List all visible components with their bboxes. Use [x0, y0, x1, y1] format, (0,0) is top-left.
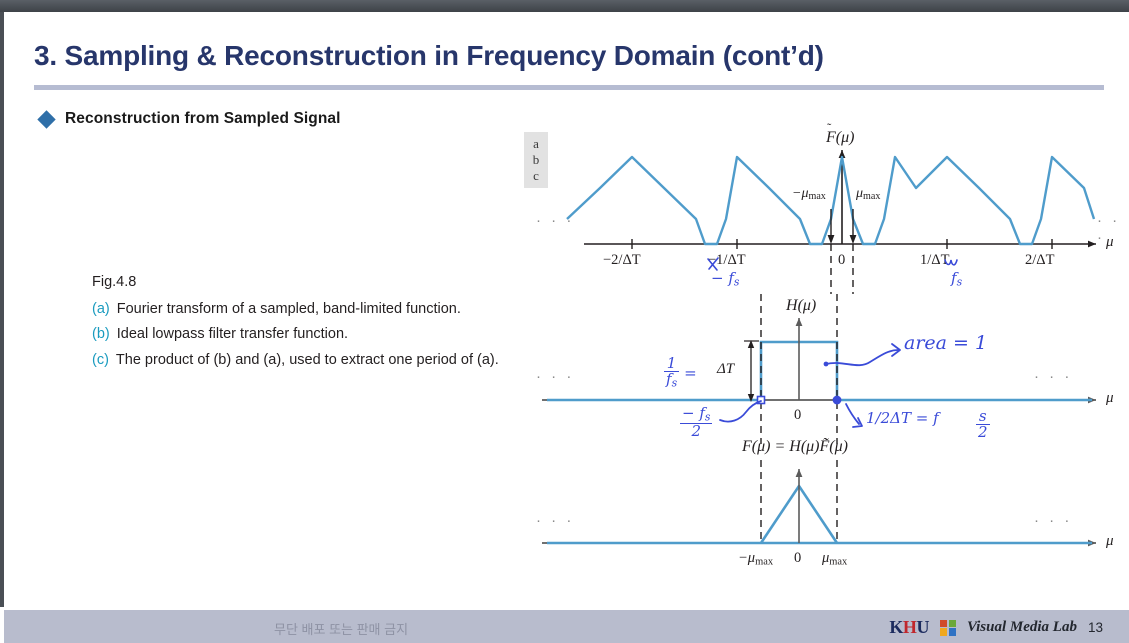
slide-canvas: 3. Sampling & Reconstruction in Frequenc…: [4, 12, 1129, 607]
panel-a-tick-label-2: 0: [838, 252, 845, 269]
figure-caption: Fig.4.8 (a) Fourier transform of a sampl…: [92, 272, 522, 375]
panel-b-delta-t-label: ΔT: [717, 361, 734, 378]
khu-logo-k: K: [889, 617, 903, 637]
bullet-label: Reconstruction from Sampled Signal: [65, 110, 341, 128]
panel-a-tick-label-0: −2/ΔT: [603, 252, 641, 269]
handwritten-nfs2-bottom: 2: [680, 424, 712, 439]
window-top-bar: [0, 0, 1129, 12]
panel-a-y-label-symbol: F: [826, 129, 836, 146]
handwritten-nfs2-top-sym: − f: [682, 404, 705, 422]
caption-text: The product of (b) and (a), used to extr…: [116, 350, 522, 371]
handwritten-half-sample-rate-text: 1/2ΔT = f: [866, 409, 939, 427]
panel-c-tick-left-sub: max: [755, 556, 773, 567]
handwritten-frac-bottom-sub: s: [672, 376, 678, 389]
panel-a-pos-mumax-sub: max: [863, 191, 880, 202]
panel-a-neg-mumax-symbol: −μ: [792, 186, 808, 201]
handwritten-area-equals-one: area = 1: [904, 332, 987, 354]
caption-item: (b) Ideal lowpass filter transfer functi…: [92, 324, 522, 345]
khu-logo: KHU: [889, 617, 929, 638]
handwritten-fs2-bottom: 2: [976, 425, 990, 440]
footer-branding: KHU Visual Media Lab 13: [889, 617, 1103, 638]
khu-logo-h: H: [903, 617, 917, 637]
four-squares-icon: [940, 620, 956, 636]
caption-item: (a) Fourier transform of a sampled, band…: [92, 299, 522, 320]
slide-footer: 무단 배포 또는 판매 금지 KHU Visual Media Lab 13: [4, 610, 1129, 643]
handwritten-fraction-one-over-fs: 1 fs: [664, 356, 679, 389]
panel-c-tick-center: 0: [794, 550, 801, 567]
panel-b-title: H(μ): [786, 297, 816, 315]
title-underline: [34, 85, 1104, 90]
handwritten-one-over-fs: 1 fs =: [664, 356, 697, 389]
handwritten-tick-left: [704, 256, 734, 276]
panel-a-x-arrowhead: [1088, 241, 1096, 248]
caption-tag: (a): [92, 299, 110, 320]
figure-number: Fig.4.8: [92, 272, 522, 293]
caption-tag: (c): [92, 350, 109, 371]
handwritten-leader-right: [846, 404, 859, 424]
handwritten-neg-fs-sub: s: [734, 275, 740, 288]
panel-a-tick-label-4: 2/ΔT: [1025, 252, 1054, 269]
panel-b-right-corner-dot: [833, 396, 842, 405]
panel-c-tick-left-sym: −μ: [738, 550, 755, 566]
handwritten-neg-fs-over-2: − fs 2: [680, 406, 712, 439]
panel-b-title-symbol: H: [786, 297, 798, 314]
footer-notice: 무단 배포 또는 판매 금지: [274, 619, 408, 638]
panel-a-pos-mumax-label: μmax: [856, 186, 880, 202]
handwritten-leader-left: [720, 401, 761, 422]
handwritten-fraction-neg-fs-2: − fs 2: [680, 406, 712, 439]
square-yellow: [940, 628, 947, 635]
lab-name: Visual Media Lab: [967, 619, 1077, 636]
square-red: [940, 620, 947, 627]
panel-b-x-axis-label: μ: [1106, 390, 1114, 407]
panel-b-left-ellipsis: · · ·: [536, 368, 574, 385]
handwritten-fs-over-2: s 2: [976, 409, 990, 440]
caption-item: (c) The product of (b) and (a), used to …: [92, 350, 522, 371]
caption-text: Fourier transform of a sampled, band-lim…: [117, 299, 522, 320]
panel-a-neg-mumax-label: −μmax: [792, 186, 826, 202]
square-blue: [949, 628, 956, 635]
panel-b-y-arrowhead: [796, 318, 803, 326]
figure-4-8: a b c: [514, 124, 1129, 584]
handwritten-dot-area: [824, 362, 829, 367]
bullet-row: Reconstruction from Sampled Signal: [40, 110, 341, 128]
page-title: 3. Sampling & Reconstruction in Frequenc…: [34, 40, 824, 72]
caption-text: Ideal lowpass filter transfer function.: [117, 324, 522, 345]
panel-a-mumax-left-arrowhead: [828, 235, 835, 244]
handwritten-equals: =: [684, 364, 697, 382]
panel-c-x-axis-label: μ: [1106, 533, 1114, 550]
panel-a-y-axis-label: F ̃ (μ): [826, 129, 854, 147]
panel-c-tick-left: −μmax: [738, 550, 773, 567]
panel-c-y-arrowhead: [796, 469, 803, 477]
handwritten-fraction-fs-2: s 2: [976, 409, 990, 440]
handwritten-half-sample-rate: 1/2ΔT = f: [866, 409, 939, 427]
handwritten-pos-fs-sub: s: [957, 275, 963, 288]
panel-b-title-arg: (μ): [798, 297, 817, 314]
panel-a-right-ellipsis: · · ·: [1097, 212, 1129, 246]
panel-a-left-ellipsis: · · ·: [536, 212, 574, 229]
panel-c-tick-right: μmax: [822, 550, 847, 567]
caption-tag: (b): [92, 324, 110, 345]
panel-b-origin-label: 0: [794, 407, 801, 424]
panel-b-right-ellipsis: · · ·: [1034, 368, 1072, 385]
page-number: 13: [1088, 620, 1103, 635]
handwritten-frac-bottom: fs: [664, 372, 679, 389]
panel-c-left-ellipsis: · · ·: [536, 512, 574, 529]
handwritten-nfs2-top-sub: s: [705, 410, 711, 423]
panel-c-title: F(μ) = H(μ)F̃(μ): [742, 438, 848, 456]
panel-a-neg-mumax-sub: max: [808, 191, 825, 202]
panel-c-tick-right-sub: max: [829, 556, 847, 567]
diamond-bullet-icon: [37, 110, 55, 128]
square-green: [949, 620, 956, 627]
khu-logo-u: U: [916, 617, 929, 637]
panel-a-pos-mumax-symbol: μ: [856, 186, 863, 201]
panel-c-right-ellipsis: · · ·: [1034, 512, 1072, 529]
handwritten-tick-right: [942, 256, 972, 276]
panel-a-y-label-arg: (μ): [836, 129, 855, 146]
panel-a-mumax-right-arrowhead: [850, 235, 857, 244]
